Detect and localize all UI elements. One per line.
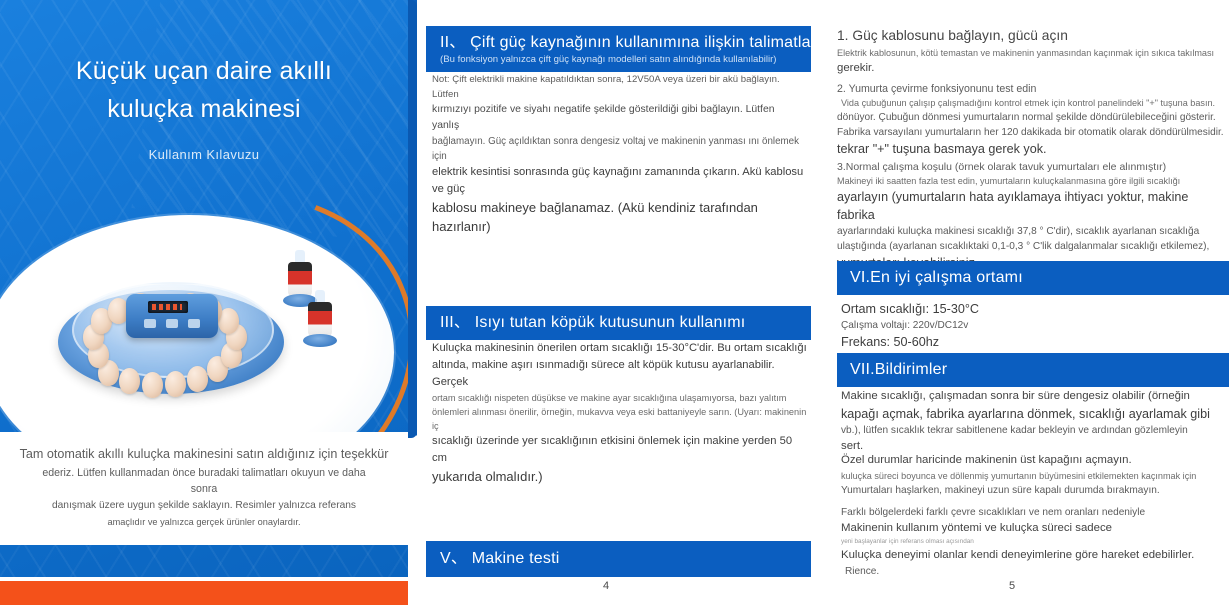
section-2-header: II、 Çift güç kaynağının kullanımına iliş… [426, 26, 811, 72]
section-7-p3-line-1: Farklı bölgelerdeki farklı çevre sıcaklı… [841, 505, 1226, 520]
section-7-p2-line-3: Yumurtaları haşlarken, makineyi uzun sür… [841, 483, 1226, 498]
section-6-body: Ortam sıcaklığı: 15-30°C Çalışma voltajı… [841, 300, 1221, 351]
step-3-line-2: ayarlayın (yumurtaların hata ayıklamaya … [837, 188, 1227, 224]
egg [142, 372, 163, 398]
step-2-line-1: Vida çubuğunun çalışıp çalışmadığını kon… [837, 96, 1225, 110]
section-5-header: V、 Makine testi [426, 541, 811, 577]
led-display [148, 301, 188, 313]
cover-panel: Küçük uçan daire akıllı kuluçka makinesi… [0, 0, 408, 605]
step-1-body: Elektrik kablosunun, kötü temastan ve ma… [837, 46, 1222, 77]
step-2-line-3: Fabrika varsayılanı yumurtaların her 120… [837, 125, 1225, 140]
section-2-line-3: bağlamayın. Güç açıldıktan sonra dengesi… [432, 134, 804, 164]
egg [187, 366, 208, 392]
step-2-line-2: dönüyor. Çubuğun dönmesi yumurtaların no… [837, 110, 1225, 125]
section-7-paragraph-2: Özel durumlar haricinde makinenin üst ka… [841, 452, 1226, 498]
section-7-paragraph-4: Kuluçka deneyimi olanlar kendi deneyimle… [841, 547, 1226, 579]
cover-footer-text: Tam otomatik akıllı kuluçka makinesini s… [0, 432, 408, 545]
step-3-line-1: Makineyi iki saatten fazla test edin, yu… [837, 174, 1227, 188]
step-2-body: Vida çubuğunun çalışıp çalışmadığını kon… [837, 96, 1225, 158]
section-3-line-5: sıcaklığı üzerinde yer sıcaklığının etki… [432, 433, 808, 467]
section-7-paragraph-1: Makine sıcaklığı, çalışmadan sonra bir s… [841, 388, 1226, 454]
section-7-p2-line-2: kuluçka süreci boyunca ve döllenmiş yumu… [841, 469, 1226, 483]
section-2-line-2: kırmızıyı pozitife ve siyahı negatife şe… [432, 102, 804, 134]
section-7-p3-line-3: yeni başlayanlar için referans olması aç… [841, 537, 1226, 547]
section-7-p3-line-2: Makinenin kullanım yöntemi ve kuluçka sü… [841, 520, 1226, 537]
section-7-p4-line-2: Rience. [841, 564, 1226, 579]
right-column: 1. Güç kablosunu bağlayın, gücü açın Ele… [819, 0, 1229, 605]
step-3-body: Makineyi iki saatten fazla test edin, yu… [837, 174, 1227, 272]
cover-title-line-1: Küçük uçan daire akıllı [0, 52, 408, 90]
section-7-paragraph-3: Farklı bölgelerdeki farklı çevre sıcaklı… [841, 505, 1226, 547]
step-2-line-4: tekrar "+" tuşuna basmaya gerek yok. [837, 140, 1225, 158]
incubator-product-image [58, 268, 284, 396]
control-button-plus [188, 319, 200, 328]
cover-title: Küçük uçan daire akıllı kuluçka makinesi [0, 52, 408, 128]
step-3-line-4: ulaştığında (ayarlanan sıcaklıktaki 0,1-… [837, 239, 1227, 254]
egg [119, 368, 140, 394]
section-7-p4-line-1: Kuluçka deneyimi olanlar kendi deneyimle… [841, 547, 1226, 564]
section-3-line-1: Kuluçka makinesinin önerilen ortam sıcak… [432, 340, 808, 357]
section-6-line-2: Çalışma voltajı: 220v/DC12v [841, 318, 1221, 333]
section-2-title: II、 Çift güç kaynağının kullanımına iliş… [440, 33, 811, 53]
section-7-p1-line-3: vb.), lütfen sıcaklık tekrar sabitlenene… [841, 423, 1226, 438]
cover-title-line-2: kuluçka makinesi [0, 90, 408, 128]
control-button-set [166, 319, 178, 328]
section-3-title: III、 Isıyı tutan köpük kutusunun kullanı… [440, 313, 811, 333]
section-6-line-3: Frekans: 50-60hz [841, 333, 1221, 351]
step-1-title: 1. Güç kablosunu bağlayın, gücü açın [837, 26, 1217, 45]
page-number-right: 5 [1009, 580, 1015, 592]
section-7-p1-line-2: kapağı açmak, fabrika ayarlarına dönmek,… [841, 405, 1226, 423]
section-3-line-3: ortam sıcaklığı nispeten düşükse ve maki… [432, 391, 808, 405]
page-number-left: 4 [603, 580, 609, 592]
section-6-header: VI.En iyi çalışma ortamı [837, 261, 1229, 295]
middle-column: II、 Çift güç kaynağının kullanımına iliş… [408, 0, 819, 605]
control-panel-pod [126, 294, 218, 338]
step-1-line-2: gerekir. [837, 60, 1222, 77]
section-2-subtitle: (Bu fonksiyon yalnızca çift güç kaynağı … [440, 53, 811, 66]
step-3-title: 3.Normal çalışma koşulu (örnek olarak ta… [837, 160, 1225, 175]
section-2-line-1: Not: Çift elektrikli makine kapatıldıkta… [432, 72, 804, 102]
section-3-header: III、 Isıyı tutan köpük kutusunun kullanı… [426, 306, 811, 340]
section-7-header: VII.Bildirimler [837, 353, 1229, 387]
cover-footer-line-1: Tam otomatik akıllı kuluçka makinesini s… [0, 446, 408, 463]
section-6-title: VI.En iyi çalışma ortamı [850, 268, 1229, 288]
egg [165, 371, 186, 397]
step-1-line-1: Elektrik kablosunun, kötü temastan ve ma… [837, 46, 1222, 60]
section-3-line-6: yukarıda olmalıdır.) [432, 467, 808, 486]
section-2-line-4: elektrik kesintisi sonrasında güç kaynağ… [432, 164, 804, 198]
manual-spread: Küçük uçan daire akıllı kuluçka makinesi… [0, 0, 1229, 605]
section-7-p1-line-1: Makine sıcaklığı, çalışmadan sonra bir s… [841, 388, 1226, 405]
control-button-minus [144, 319, 156, 328]
cover-footer-line-3: danışmak üzere uygun şekilde saklayın. R… [0, 497, 408, 513]
step-3-line-3: ayarlarındaki kuluçka makinesi sıcaklığı… [837, 224, 1227, 239]
section-3-line-2: altında, makine aşırı ısınmadığı sürece … [432, 357, 808, 391]
section-7-title: VII.Bildirimler [850, 360, 1229, 380]
orange-footer-bar [0, 581, 408, 605]
water-bottle-accessory [308, 290, 332, 348]
cover-footer-line-4: amaçlıdır ve yalnızca gerçek ürünler ona… [0, 513, 408, 529]
cover-footer-line-2: ederiz. Lütfen kullanmadan önce buradaki… [0, 463, 408, 497]
section-7-p2-line-1: Özel durumlar haricinde makinenin üst ka… [841, 452, 1226, 469]
bottle-body [308, 302, 332, 336]
section-2-body: Not: Çift elektrikli makine kapatıldıkta… [432, 72, 804, 236]
section-6-line-1: Ortam sıcaklığı: 15-30°C [841, 300, 1221, 318]
bottle-stand [303, 334, 337, 347]
step-2-title: 2. Yumurta çevirme fonksiyonunu test edi… [837, 82, 1217, 97]
column-left-accent-strip-inner [408, 0, 417, 438]
section-3-line-4: önlemleri alınması önerilir, örneğin, mu… [432, 405, 808, 433]
section-5-title: V、 Makine testi [440, 549, 811, 569]
section-3-body: Kuluçka makinesinin önerilen ortam sıcak… [432, 340, 808, 486]
section-2-line-5: kablosu makineye bağlanamaz. (Akü kendin… [432, 198, 804, 236]
cover-subtitle: Kullanım Kılavuzu [0, 147, 408, 162]
